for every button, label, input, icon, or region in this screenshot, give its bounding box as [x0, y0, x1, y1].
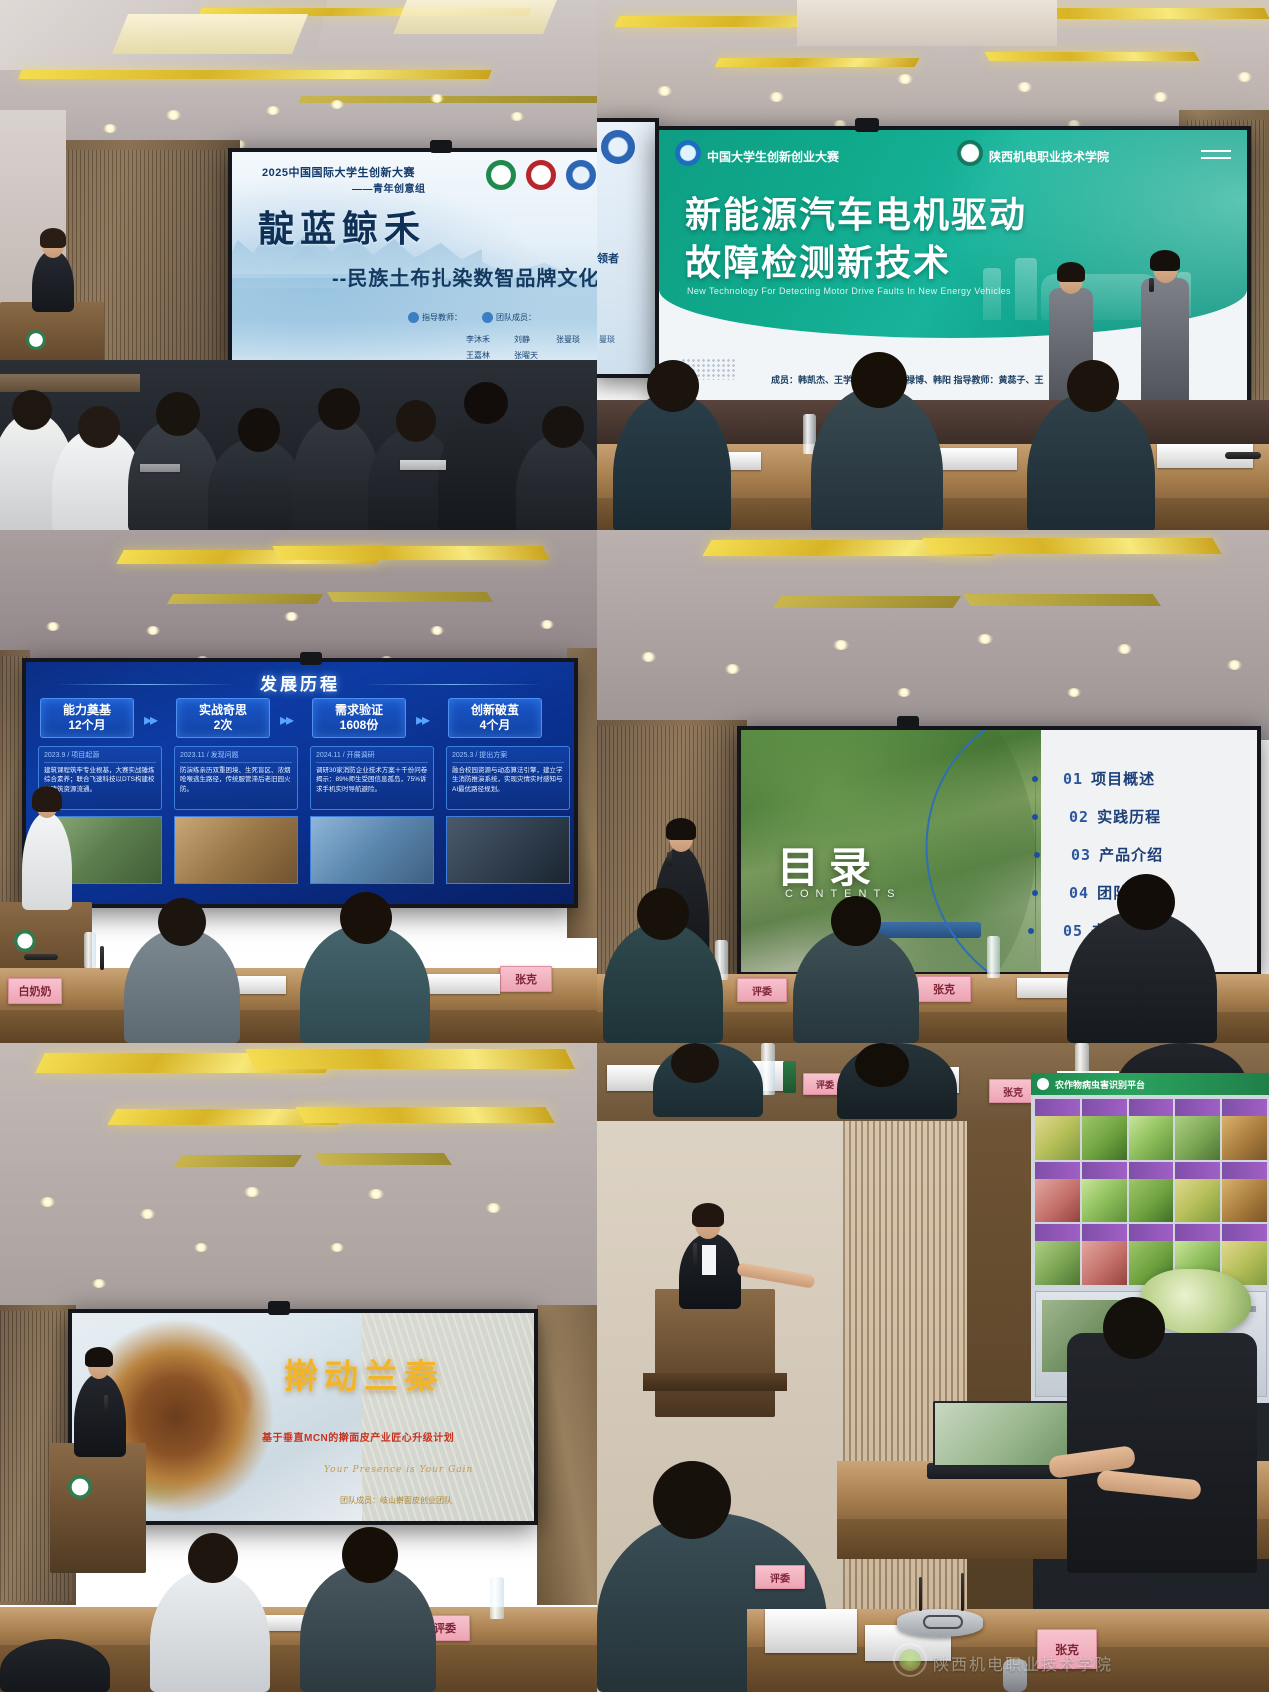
photo-collage: 2025中国国际大学生创新大赛 ——青年创意组 靛蓝鲸禾 --民族土布扎染数智品…	[0, 0, 1269, 1692]
step-label: 需求验证	[335, 703, 383, 718]
nameplate: 评委	[755, 1565, 805, 1589]
list-bullet	[1034, 852, 1040, 858]
ceiling-gold-strip	[922, 538, 1221, 554]
step-value: 2次	[214, 718, 233, 733]
card-photo	[310, 816, 434, 884]
panel-4-contents: 目录 CONTENTS 01项目概述 02实践历程	[597, 530, 1269, 1043]
grid-cell[interactable]	[1222, 1099, 1267, 1160]
grid-cell[interactable]	[1175, 1162, 1220, 1223]
members-label: 成员：韩凯杰、王学良、李俊楠、禄博、韩阳 指导教师：黄蕊子、王	[771, 373, 1044, 386]
downlight	[244, 1187, 260, 1197]
water-bottle	[987, 936, 1000, 978]
table-mic	[1225, 452, 1261, 459]
water-bottle	[761, 1043, 775, 1095]
list-bullet	[1032, 890, 1038, 896]
speaker-hair	[692, 1203, 724, 1227]
nameplate: 张克	[917, 976, 971, 1002]
audience-member	[150, 1569, 270, 1692]
timeline-card: 2023.11 / 发现问题 防演练亲历双重困境、生死盲区、浓烟呛喉逃生路径，传…	[174, 746, 298, 810]
downlight	[103, 124, 117, 133]
grid-cell[interactable]	[1129, 1162, 1174, 1223]
contents-item: 02实践历程	[1069, 806, 1161, 827]
card-body: 防演练亲历双重困境、生死盲区、浓烟呛喉逃生路径，传统服管滞后老旧园火防。	[180, 766, 292, 794]
card-tag: 项目起源	[71, 752, 99, 759]
card-tag: 提出方案	[479, 752, 507, 759]
handheld-mic	[667, 852, 672, 866]
downlight	[977, 634, 993, 644]
grid-cell[interactable]	[1082, 1099, 1127, 1160]
ceiling-gold-strip	[272, 546, 549, 560]
grid-cell[interactable]	[1129, 1099, 1174, 1160]
arrow-icon: ▸▸	[144, 710, 156, 730]
speaker-shirt	[702, 1245, 716, 1275]
timeline-step: 创新破茧 4个月	[448, 698, 542, 738]
panel-1-indigo-whale: 2025中国国际大学生创新大赛 ——青年创意组 靛蓝鲸禾 --民族土布扎染数智品…	[0, 0, 597, 530]
downlight	[330, 100, 344, 109]
item-label: 项目概述	[1091, 771, 1155, 788]
downlight	[510, 112, 524, 121]
ceiling-gold-strip	[963, 594, 1161, 606]
downlight	[833, 640, 849, 650]
downlight	[1237, 72, 1252, 82]
step-label: 能力奠基	[63, 703, 111, 718]
audience-head	[318, 388, 360, 430]
downlight	[140, 1209, 155, 1219]
downlight	[1227, 660, 1242, 670]
ceiling-light-panel	[393, 0, 557, 34]
card-body: 调研30家消防企业技术方案＋千份问卷揭示：89%师生受困信息孤岛，75%诉求手机…	[316, 766, 428, 794]
document-stack	[765, 1609, 857, 1653]
judge-1-head	[158, 898, 206, 946]
list-bullet	[1032, 814, 1038, 820]
panel-5-noodle-brand: 擀动兰秦 基于垂直MCN的擀面皮产业匠心升级计划 Your Presence i…	[0, 1043, 597, 1692]
downlight	[769, 92, 784, 102]
judge-2-head	[831, 896, 881, 946]
table-mic	[24, 954, 58, 960]
school-emblem-icon	[957, 140, 983, 166]
slide-subtitle-en: New Technology For Detecting Motor Drive…	[687, 286, 1011, 296]
timeline-step: 实战奇思 2次	[176, 698, 270, 738]
grid-cell[interactable]	[1082, 1162, 1127, 1223]
card-date: 2024.11	[316, 752, 341, 759]
gooseneck-mic	[104, 1395, 108, 1415]
brand-left-label: 中国大学生创新创业大赛	[707, 148, 839, 165]
audience-head	[542, 406, 584, 448]
nameplate: 评委	[737, 978, 787, 1002]
downlight	[641, 652, 656, 662]
judge-head	[671, 1043, 719, 1083]
grid-cell[interactable]	[1035, 1099, 1080, 1160]
judge-2-head	[340, 892, 392, 944]
mic-speaker-grille	[923, 1615, 963, 1629]
watermark-emblem-icon	[893, 1643, 927, 1677]
slide-title: 发展历程	[260, 670, 340, 695]
charging-pile-graphic	[1015, 258, 1037, 320]
card-tag: 发现问题	[211, 752, 239, 759]
card-photo	[174, 816, 298, 884]
audience-head	[653, 1461, 731, 1539]
slide-script-line: Your Presence is Your Gain	[324, 1465, 473, 1475]
downlight	[430, 626, 444, 635]
projector-mount	[855, 118, 879, 132]
judge-1-head	[647, 360, 699, 412]
contest-emblem-blue-icon	[566, 160, 596, 190]
audience-head	[188, 1533, 238, 1583]
card-tag: 开展调研	[347, 752, 375, 759]
grid-cell[interactable]	[1035, 1162, 1080, 1223]
grid-cell[interactable]	[1222, 1162, 1267, 1223]
contents-item: 03产品介绍	[1071, 844, 1163, 865]
member-name: 刘静	[514, 334, 530, 345]
led-screen: 2025中国国际大学生创新大赛 ——青年创意组 靛蓝鲸禾 --民族土布扎染数智品…	[228, 148, 597, 370]
card-date: 2023.9	[44, 752, 65, 759]
speaker-hair	[666, 818, 696, 840]
podium	[50, 1443, 146, 1573]
leaf-icon	[1037, 1078, 1049, 1090]
competition-emblem-red-icon	[526, 160, 556, 190]
downlight	[166, 110, 181, 120]
audience-member	[128, 420, 220, 530]
gooseneck-mic	[100, 946, 104, 970]
grid-cell[interactable]	[1082, 1224, 1127, 1285]
list-bullet	[1032, 776, 1038, 782]
nameplate: 张克	[989, 1079, 1037, 1103]
ceiling-gold-strip	[18, 70, 491, 79]
card-body: 建筑课程筑牢专业根基，大赛实战锤炼综合素养；联合飞速科技以DTS构建校园建筑资源…	[44, 766, 156, 794]
led-screen: 中国大学生创新创业大赛 陕西机电职业技术学院 新能源汽车电机驱动 故障检测新技术…	[655, 126, 1251, 406]
ceiling-light-panel	[112, 14, 308, 54]
ceiling-gold-strip	[167, 594, 323, 604]
timeline-card: 2024.11 / 开展调研 调研30家消防企业技术方案＋千份问卷揭示：89%师…	[310, 746, 434, 810]
panel-6-agri-platform-demo: 评委 张克 农作物病虫害识别平台	[597, 1043, 1269, 1692]
school-emblem-icon	[26, 330, 46, 350]
downlight	[46, 622, 60, 631]
audience-head	[396, 400, 436, 442]
downlight	[486, 1203, 501, 1213]
slide-indigo-whale: 2025中国国际大学生创新大赛 ——青年创意组 靛蓝鲸禾 --民族土布扎染数智品…	[232, 152, 597, 366]
ceiling-gold-strip	[714, 58, 919, 67]
audience-member	[292, 416, 380, 530]
green-cup	[783, 1061, 796, 1093]
ceiling-gold-strip	[314, 1153, 452, 1165]
platform-topbar: 农作物病虫害识别平台	[1031, 1073, 1269, 1095]
contest-emblem-blue-icon	[601, 130, 635, 164]
card-body: 融合校园资源与动态算法引擎，建立学生消防推演系统，实现灾情实时感知与AI最优路径…	[452, 766, 564, 794]
team-icon	[482, 312, 493, 323]
brand-right-label: 陕西机电职业技术学院	[989, 148, 1109, 165]
downlight	[725, 664, 740, 674]
step-label: 创新破茧	[471, 703, 519, 718]
downlight	[1067, 688, 1081, 697]
item-number: 03	[1071, 846, 1091, 864]
slide-subtitle: 基于垂直MCN的擀面皮产业匠心升级计划	[262, 1429, 454, 1444]
downlight	[330, 1243, 344, 1252]
judge-3-head	[1117, 874, 1175, 930]
downlight	[540, 620, 554, 629]
slide-header-line1: 2025中国国际大学生创新大赛	[262, 164, 415, 180]
speaker-hair	[32, 786, 62, 812]
step-value: 1608份	[340, 718, 379, 733]
judge-3-head	[1067, 360, 1119, 412]
ceiling-gold-strip	[299, 96, 597, 103]
school-emblem-icon	[68, 1475, 92, 1499]
crop-image-grid	[1035, 1099, 1267, 1285]
card-date: 2023.11	[180, 752, 205, 759]
panel-2-ev-motor-fault: 领者 曼琰	[597, 0, 1269, 530]
school-emblem-green-icon	[486, 160, 516, 190]
downlight	[194, 1243, 208, 1252]
judge-2-head	[851, 352, 907, 408]
audience-head	[342, 1527, 398, 1583]
projector-mount	[897, 716, 919, 730]
led-screen: 发展历程 能力奠基 12个月 ▸▸ 实战奇思 2次 ▸▸	[22, 658, 578, 908]
gooseneck-mic	[693, 1243, 697, 1269]
audience-head	[12, 390, 52, 430]
downlight	[897, 74, 913, 84]
slide-subtitle: --民族土布扎染数智品牌文化引领者	[332, 262, 597, 291]
item-label: 产品介绍	[1099, 847, 1163, 864]
downlight	[897, 688, 911, 697]
contents-item: 01项目概述	[1063, 768, 1155, 789]
audience-head	[156, 392, 200, 436]
ceiling-gold-strip	[327, 592, 493, 602]
downlight	[146, 626, 160, 635]
audience-area	[0, 360, 597, 530]
water-bottle	[490, 1577, 504, 1619]
contest-emblem-icon	[675, 140, 701, 166]
adjacent-screen: 领者 曼琰	[597, 118, 659, 378]
advisor-label: 指导教师：	[422, 312, 462, 323]
member-name: 李沐禾	[466, 334, 490, 345]
list-bullet	[1028, 928, 1034, 934]
item-number: 01	[1063, 770, 1083, 788]
ceiling-gold-strip	[245, 1049, 575, 1069]
ceiling-gold-strip	[773, 596, 961, 608]
slide-title: 靛蓝鲸禾	[258, 200, 426, 252]
judge-head	[855, 1043, 909, 1087]
item-label: 实践历程	[1097, 809, 1161, 826]
contents-title-cn: 目录	[777, 834, 881, 895]
ceiling-gold-strip	[174, 1155, 302, 1167]
nameplate: 白奶奶	[8, 978, 62, 1004]
judge-1-head	[637, 888, 689, 940]
timeline-step: 能力奠基 12个月	[40, 698, 134, 738]
audience-head	[78, 406, 120, 448]
downlight	[40, 1197, 55, 1207]
slide-team-line: 团队成员：岐山擀面皮创业团队	[340, 1495, 452, 1506]
team-label: 团队成员：	[496, 312, 536, 323]
item-number: 02	[1069, 808, 1089, 826]
water-bottle	[84, 932, 96, 968]
grid-cell[interactable]	[1175, 1099, 1220, 1160]
ceiling-gold-strip	[984, 52, 1199, 61]
handheld-mic	[1149, 278, 1154, 292]
downlight	[92, 1279, 106, 1288]
downlight	[266, 106, 280, 115]
item-number: 04	[1069, 884, 1089, 902]
panel-3-development-timeline: 发展历程 能力奠基 12个月 ▸▸ 实战奇思 2次 ▸▸	[0, 530, 597, 1043]
slide-title-line2: 故障检测新技术	[685, 234, 951, 286]
step-value: 4个月	[480, 718, 511, 733]
audience-member	[516, 434, 597, 530]
member-name: 张曼琰	[556, 334, 580, 345]
downlight	[1117, 644, 1132, 654]
grid-cell[interactable]	[1035, 1224, 1080, 1285]
demo-student-head	[1103, 1297, 1165, 1359]
judge-table-front	[0, 1010, 597, 1043]
presenter-2-hair	[1150, 250, 1180, 271]
step-label: 实战奇思	[199, 703, 247, 718]
speaker-hair	[40, 228, 66, 248]
card-date: 2025.3	[452, 752, 473, 759]
downlight	[284, 612, 299, 621]
conference-mic-stalk	[919, 1577, 922, 1611]
projector-mount	[268, 1301, 290, 1315]
document-stack	[420, 974, 500, 994]
watermark-text: 陕西机电职业技术学院	[933, 1651, 1113, 1675]
nameplate: 张克	[500, 966, 552, 992]
downlight	[430, 94, 444, 103]
step-value: 12个月	[68, 718, 105, 733]
card-photo	[446, 816, 570, 884]
slide-header-line2: ——青年创意组	[352, 180, 426, 195]
slide-title-line1: 新能源汽车电机驱动	[685, 186, 1027, 238]
advisor-icon	[408, 312, 419, 323]
ceiling-gold-strip	[295, 1107, 554, 1123]
arrow-icon: ▸▸	[416, 710, 428, 730]
arrow-icon: ▸▸	[280, 710, 292, 730]
projector-mount	[300, 652, 322, 665]
projector-mount	[430, 140, 452, 153]
timeline-card: 2025.3 / 提出方案 融合校园资源与动态算法引擎，建立学生消防推演系统，实…	[446, 746, 570, 810]
audience-head	[238, 408, 280, 452]
timeline-step: 需求验证 1608份	[312, 698, 406, 738]
conference-mic-stalk	[961, 1573, 964, 1611]
presenter-1-hair	[1057, 262, 1085, 282]
downlight	[657, 86, 672, 96]
item-number: 05	[1063, 922, 1083, 940]
slide-title: 擀动兰秦	[284, 1349, 444, 1398]
audience-head	[464, 382, 508, 424]
school-emblem-icon	[14, 930, 36, 952]
downlight	[1153, 92, 1168, 102]
speaker-hair	[85, 1347, 113, 1367]
slide-development-timeline: 发展历程 能力奠基 12个月 ▸▸ 实战奇思 2次 ▸▸	[26, 662, 574, 904]
downlight	[1017, 82, 1032, 92]
downlight	[368, 1189, 384, 1199]
platform-title: 农作物病虫害识别平台	[1055, 1078, 1145, 1091]
presenter-2-body	[1141, 278, 1189, 402]
